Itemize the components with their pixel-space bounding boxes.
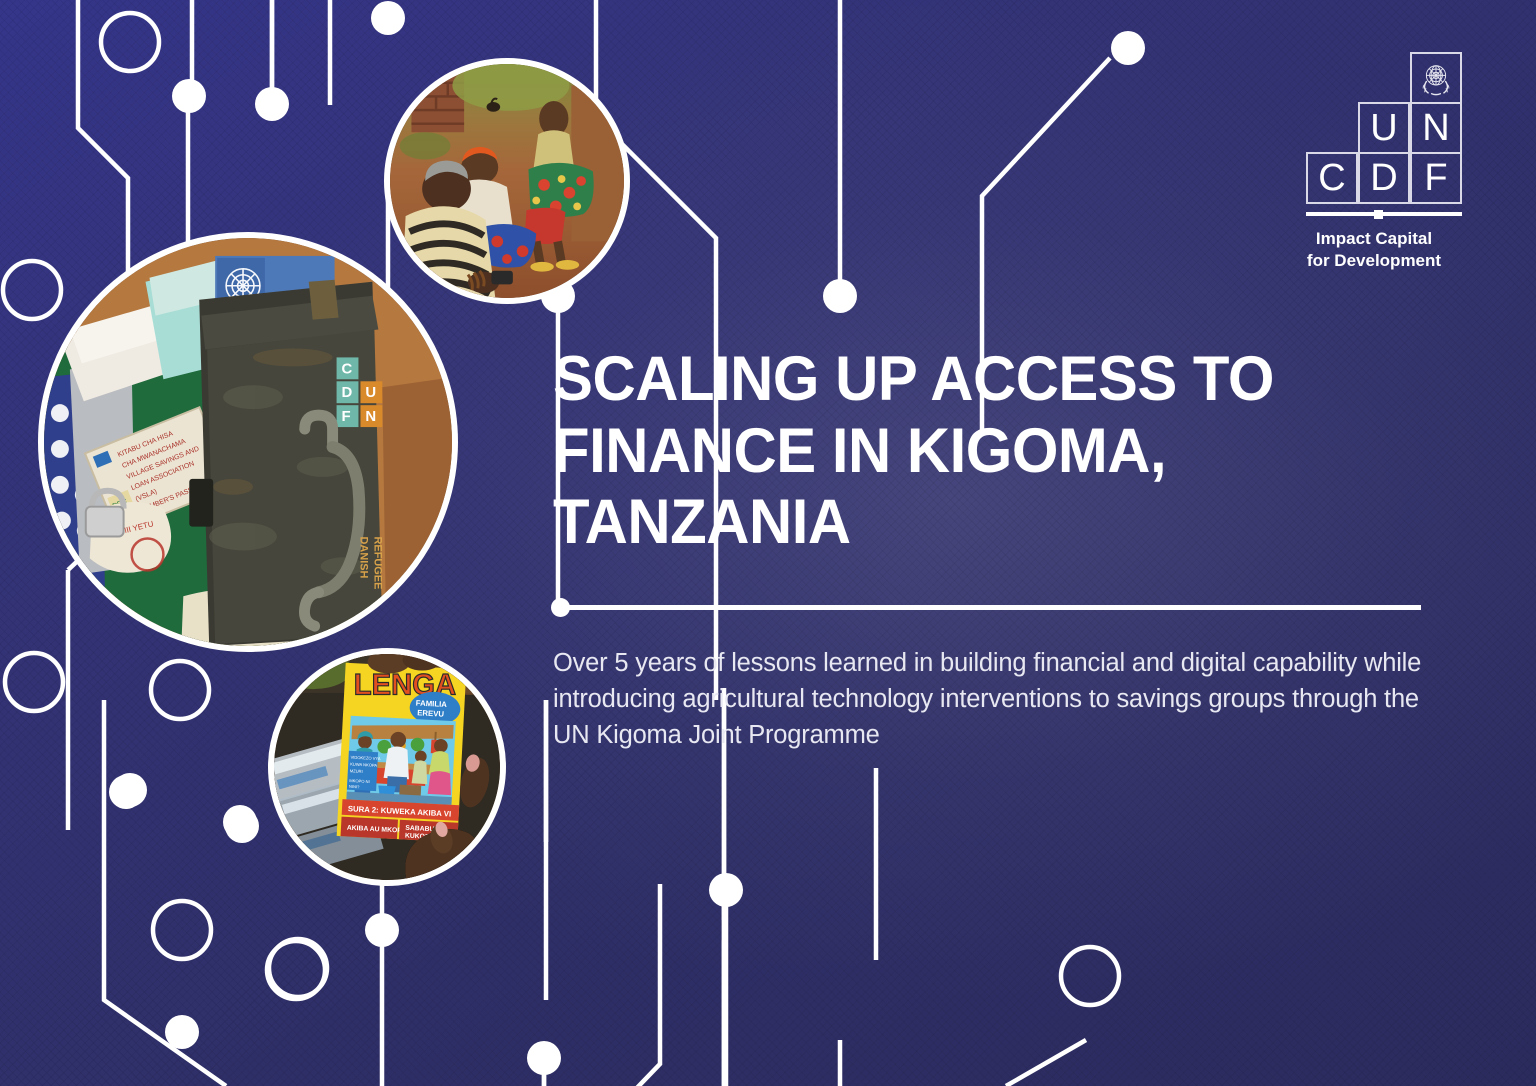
svg-text:NINI?: NINI? bbox=[349, 784, 360, 790]
svg-text:D: D bbox=[342, 384, 353, 401]
svg-text:U: U bbox=[365, 384, 376, 401]
svg-text:MZURI: MZURI bbox=[350, 768, 363, 774]
svg-text:C: C bbox=[342, 360, 353, 377]
cover-page: N KITABU CHA HISA CHA MWANACHAMA VILLAGE… bbox=[0, 0, 1536, 1086]
photo-women-savings-group bbox=[384, 58, 630, 304]
uncdf-logo-rule-marker bbox=[1374, 210, 1383, 219]
photo-lenga-booklet-image: LENGA FAMILIA EREVU NA SALAMA bbox=[274, 654, 500, 880]
title-divider-knob bbox=[551, 598, 570, 617]
photo-women-savings-group-image bbox=[390, 64, 624, 298]
title-divider bbox=[553, 605, 1421, 610]
uncdf-letter-d: D bbox=[1358, 152, 1410, 204]
un-emblem-icon bbox=[1410, 52, 1462, 104]
page-title: SCALING UP ACCESS TO FINANCE IN KIGOMA, … bbox=[553, 344, 1389, 559]
uncdf-tagline-line2: for Development bbox=[1286, 250, 1462, 272]
uncdf-letter-u: U bbox=[1358, 102, 1410, 154]
uncdf-tagline: Impact Capital for Development bbox=[1286, 228, 1462, 272]
photo-savings-cash-box-image: N KITABU CHA HISA CHA MWANACHAMA VILLAGE… bbox=[44, 238, 452, 646]
uncdf-letter-n: N bbox=[1410, 102, 1462, 154]
svg-text:REFUGEE: REFUGEE bbox=[371, 537, 383, 590]
photo-savings-cash-box: N KITABU CHA HISA CHA MWANACHAMA VILLAGE… bbox=[38, 232, 458, 652]
svg-text:F: F bbox=[342, 408, 351, 425]
svg-text:DANISH: DANISH bbox=[357, 537, 369, 579]
svg-text:EREVU: EREVU bbox=[417, 708, 445, 718]
uncdf-tagline-line1: Impact Capital bbox=[1286, 228, 1462, 250]
page-subtitle: Over 5 years of lessons learned in build… bbox=[553, 645, 1438, 754]
uncdf-letter-c: C bbox=[1306, 152, 1358, 204]
uncdf-logo: U N C D F Impact Capital for Development bbox=[1286, 52, 1462, 272]
photo-lenga-booklet: LENGA FAMILIA EREVU NA SALAMA bbox=[268, 648, 506, 886]
uncdf-letter-f: F bbox=[1410, 152, 1462, 204]
uncdf-logo-grid: U N C D F bbox=[1286, 52, 1462, 204]
uncdf-logo-rule bbox=[1306, 212, 1462, 216]
svg-text:N: N bbox=[365, 408, 376, 425]
